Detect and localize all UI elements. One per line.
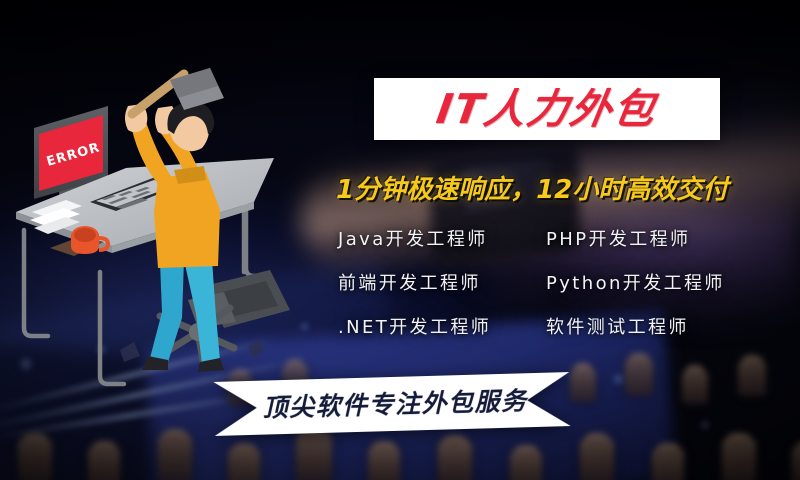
subtitle-row: 1分钟极速响应，12小时高效交付	[336, 172, 796, 208]
service-item-python: Python开发工程师	[546, 270, 790, 298]
service-item-php: PHP开发工程师	[546, 226, 790, 254]
title-banner: IT人力外包	[374, 78, 720, 140]
subtitle-text: 1分钟极速响应，12小时高效交付	[336, 177, 728, 203]
developer-smashing-desk-illustration: ERROR	[8, 60, 338, 390]
service-item-qa: 软件测试工程师	[546, 314, 790, 342]
promotional-banner: ERROR	[0, 0, 800, 480]
service-item-frontend: 前端开发工程师	[338, 270, 538, 298]
ribbon-label: 顶尖软件专注外包服务	[213, 372, 570, 436]
page-title: IT人力外包	[434, 89, 660, 130]
debris	[120, 340, 264, 362]
service-list: Java开发工程师 PHP开发工程师 前端开发工程师 Python开发工程师 .…	[338, 226, 790, 342]
service-item-dotnet: .NET开发工程师	[338, 314, 538, 342]
service-item-java: Java开发工程师	[338, 226, 538, 254]
bottom-ribbon: 顶尖软件专注外包服务	[213, 372, 570, 436]
